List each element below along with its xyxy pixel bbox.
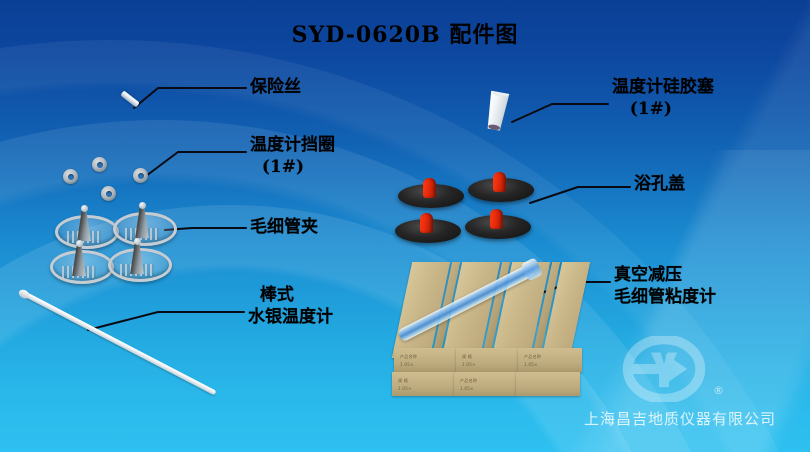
callout-label-ring: 温度计挡圈 (1#) [250, 134, 335, 179]
clamp-screw [81, 205, 88, 212]
box-label-text: 1.05× [398, 386, 412, 391]
bath-hole-cover-part [465, 209, 531, 239]
plug-hole [488, 124, 501, 131]
thermometer-ring-part [101, 186, 116, 201]
cover-knob [420, 213, 433, 233]
callout-label-thermometer: 棒式 水银温度计 [248, 284, 333, 329]
capillary-clamp-part [108, 238, 168, 280]
page-title: SYD-0620B 配件图 [0, 17, 810, 49]
callout-label-plug: 温度计硅胶塞 (1#) [612, 76, 714, 121]
leader-line-clamp [165, 228, 246, 230]
leader-line-bathcover [530, 187, 630, 203]
fuse-part [120, 90, 139, 107]
box-label-text: 1.05× [400, 362, 414, 367]
callout-label-clamp: 毛细管夹 [250, 216, 318, 238]
cover-knob [423, 178, 436, 198]
box-label-text: 规 格 [462, 354, 472, 360]
thermometer-ring-part [133, 168, 148, 183]
box-label-text: 1.05× [460, 386, 474, 391]
capillary-clamp-part [50, 240, 110, 282]
company-name: 上海昌吉地质仪器有限公司 [555, 408, 805, 429]
clamp-screw [134, 238, 141, 245]
registered-trademark-symbol: ® [713, 384, 724, 397]
box-label-text: 1.05× [462, 362, 476, 367]
company-watermark: ® 上海昌吉地质仪器有限公司 [555, 336, 805, 446]
silicone-plug-part [483, 90, 511, 131]
bath-hole-cover-part [395, 213, 461, 243]
callout-label-fuse: 保险丝 [250, 76, 301, 98]
accessories-diagram-canvas: SYD-0620B 配件图 [0, 0, 810, 452]
leader-line-ring [146, 152, 246, 176]
box-label-text: 产品名称 [460, 378, 477, 384]
box-label-text: 1.05× [524, 362, 538, 367]
box-label-text: 规 格 [398, 378, 408, 384]
clamp-screw [139, 202, 146, 209]
callout-label-viscometer: 真空减压 毛细管粘度计 [614, 264, 716, 309]
rod-mercury-thermometer-part [21, 290, 217, 395]
thermometer-ring-part [92, 157, 107, 172]
cover-knob [493, 172, 506, 192]
clamp-screw [76, 240, 83, 247]
sy-logo-icon [622, 336, 706, 402]
bath-hole-cover-part [468, 172, 534, 202]
thermometer-ring-part [63, 169, 78, 184]
box-label-text: 产品名称 [524, 354, 541, 360]
leader-line-plug [512, 104, 608, 122]
leader-line-fuse [134, 88, 246, 108]
leader-line-thermometer [88, 312, 244, 330]
callout-label-bathcover: 浴孔盖 [634, 173, 685, 195]
box-label-text: 产品名称 [400, 354, 417, 360]
bath-hole-cover-part [398, 178, 464, 208]
plug-lip [491, 88, 510, 98]
cover-knob [490, 209, 503, 229]
